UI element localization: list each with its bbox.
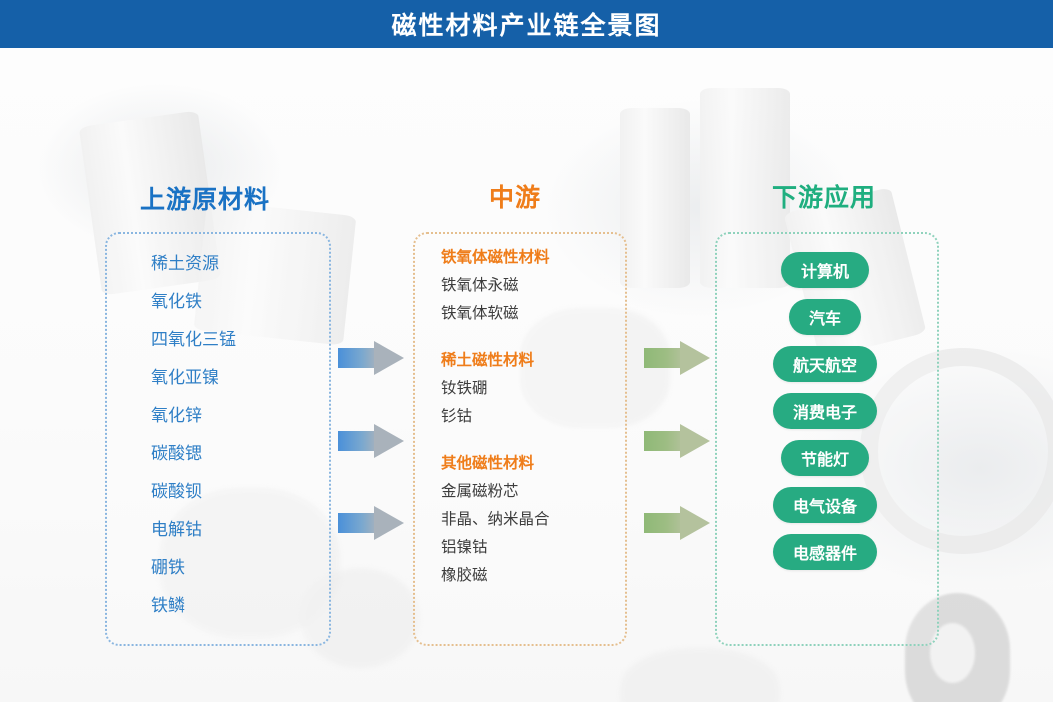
application-pill[interactable]: 消费电子 bbox=[773, 393, 877, 429]
application-pill[interactable]: 计算机 bbox=[781, 252, 869, 288]
bg-blur-shape bbox=[620, 648, 780, 702]
midstream-group: 稀土磁性材料 钕铁硼 钐钴 bbox=[413, 347, 623, 430]
list-item[interactable]: 铝镍钴 bbox=[441, 533, 623, 561]
list-item[interactable]: 四氧化三锰 bbox=[105, 321, 236, 359]
list-item[interactable]: 铁氧体软磁 bbox=[441, 299, 623, 327]
list-item[interactable]: 钐钴 bbox=[441, 402, 623, 430]
column-heading-upstream: 上游原材料 bbox=[140, 180, 270, 216]
application-pill[interactable]: 汽车 bbox=[789, 299, 861, 335]
infographic-page: 磁性材料产业链全景图 上游原材料 中游 下游应用 稀土资源 氧化铁 四氧化三锰 … bbox=[0, 0, 1053, 702]
bg-core-shape bbox=[620, 108, 690, 288]
arrow-right-icon bbox=[338, 424, 404, 458]
application-pill[interactable]: 电气设备 bbox=[773, 487, 877, 523]
list-item[interactable]: 硼铁 bbox=[105, 549, 185, 587]
list-item[interactable]: 碳酸钡 bbox=[105, 473, 202, 511]
group-title: 铁氧体磁性材料 bbox=[441, 244, 623, 271]
midstream-group: 其他磁性材料 金属磁粉芯 非晶、纳米晶合 铝镍钴 橡胶磁 bbox=[413, 450, 623, 589]
arrow-right-icon bbox=[644, 424, 710, 458]
list-item[interactable]: 碳酸锶 bbox=[105, 435, 202, 473]
list-item[interactable]: 橡胶磁 bbox=[441, 561, 623, 589]
page-header: 磁性材料产业链全景图 bbox=[0, 0, 1053, 48]
arrow-right-icon bbox=[644, 506, 710, 540]
list-item[interactable]: 电解钴 bbox=[105, 511, 202, 549]
list-item[interactable]: 氧化亚镍 bbox=[105, 359, 219, 397]
arrow-right-icon bbox=[338, 506, 404, 540]
list-item[interactable]: 非晶、纳米晶合 bbox=[441, 505, 623, 533]
list-item[interactable]: 稀土资源 bbox=[105, 245, 219, 283]
application-pill[interactable]: 航天航空 bbox=[773, 346, 877, 382]
column-heading-downstream: 下游应用 bbox=[772, 178, 876, 214]
application-pill[interactable]: 节能灯 bbox=[781, 440, 869, 476]
group-title: 其他磁性材料 bbox=[441, 450, 623, 477]
upstream-list: 稀土资源 氧化铁 四氧化三锰 氧化亚镍 氧化锌 碳酸锶 碳酸钡 电解钴 硼铁 铁… bbox=[105, 245, 327, 625]
list-item[interactable]: 铁鳞 bbox=[105, 587, 185, 625]
arrow-right-icon bbox=[338, 341, 404, 375]
column-heading-midstream: 中游 bbox=[489, 178, 541, 214]
list-item[interactable]: 钕铁硼 bbox=[441, 374, 623, 402]
midstream-group: 铁氧体磁性材料 铁氧体永磁 铁氧体软磁 bbox=[413, 244, 623, 327]
midstream-groups: 铁氧体磁性材料 铁氧体永磁 铁氧体软磁 稀土磁性材料 钕铁硼 钐钴 其他磁性材料… bbox=[413, 244, 623, 609]
list-item[interactable]: 氧化铁 bbox=[105, 283, 202, 321]
application-pill[interactable]: 电感器件 bbox=[773, 534, 877, 570]
downstream-list: 计算机 汽车 航天航空 消费电子 节能灯 电气设备 电感器件 bbox=[715, 252, 935, 581]
group-title: 稀土磁性材料 bbox=[441, 347, 623, 374]
list-item[interactable]: 金属磁粉芯 bbox=[441, 477, 623, 505]
list-item[interactable]: 氧化锌 bbox=[105, 397, 202, 435]
arrow-right-icon bbox=[644, 341, 710, 375]
list-item[interactable]: 铁氧体永磁 bbox=[441, 271, 623, 299]
page-title: 磁性材料产业链全景图 bbox=[391, 6, 661, 42]
